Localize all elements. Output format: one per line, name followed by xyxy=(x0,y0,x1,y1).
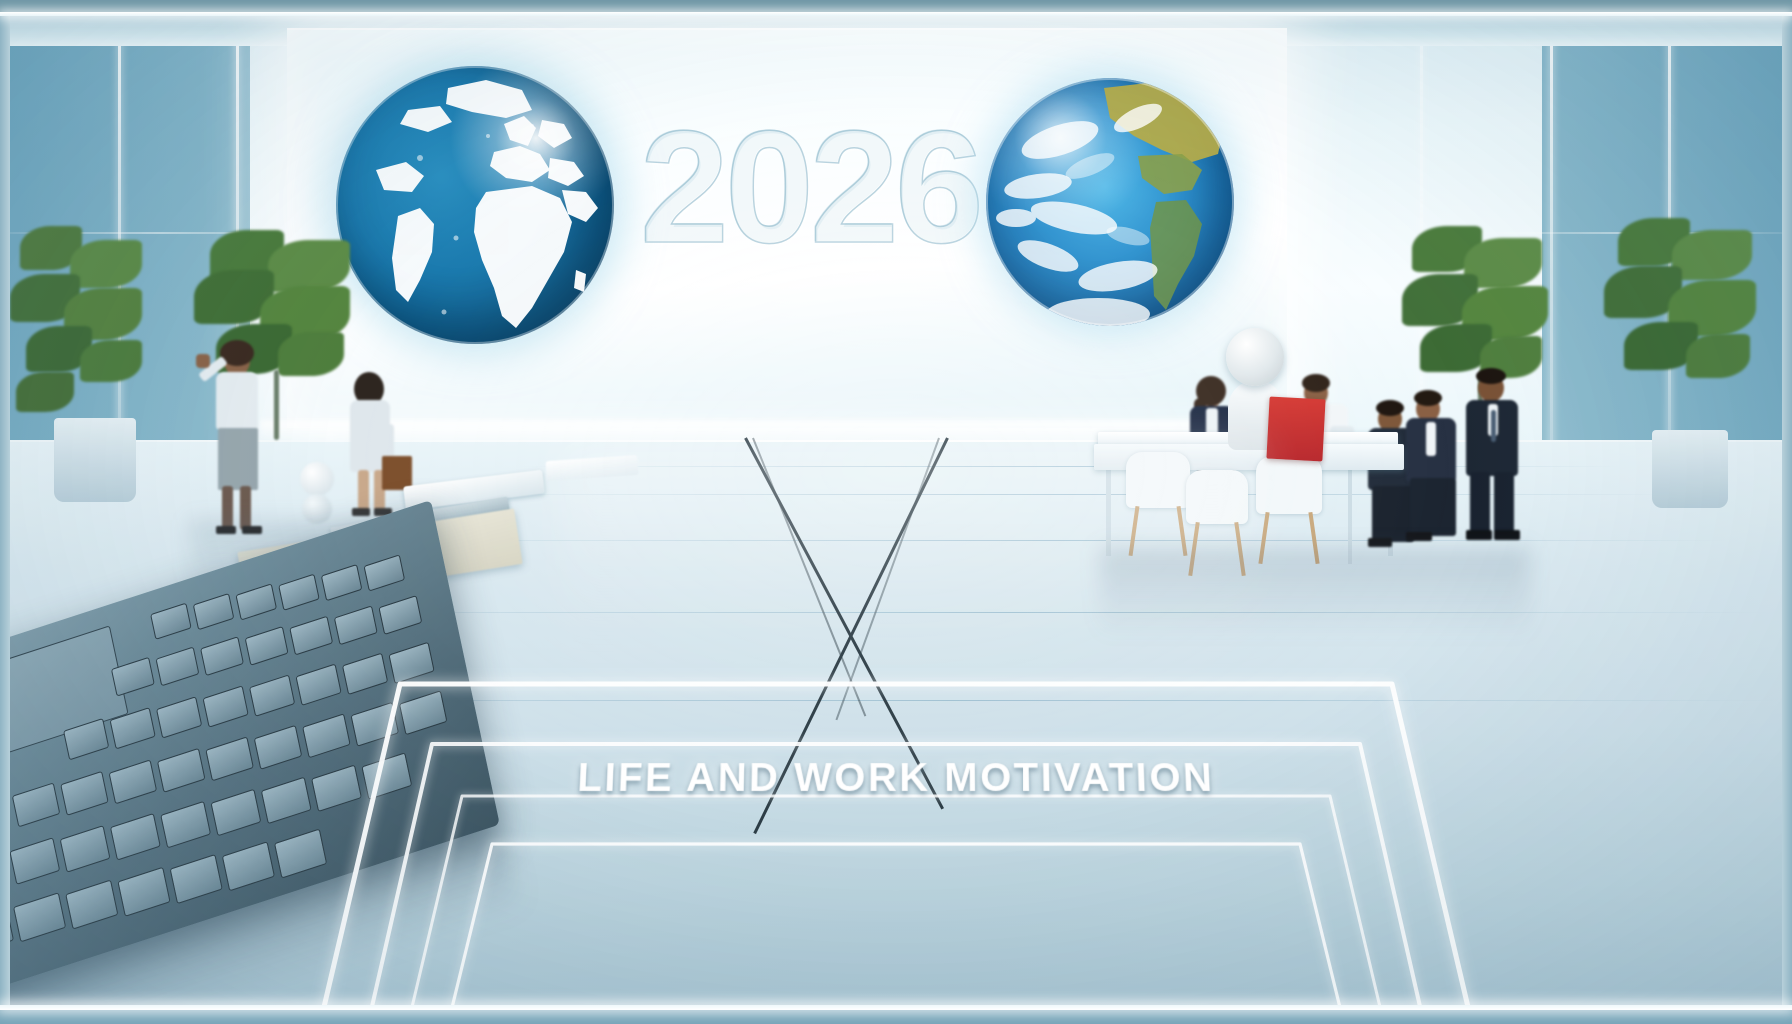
table-leg-1 xyxy=(1106,468,1111,556)
banner-headline: LIFE AND WORK MOTIVATION xyxy=(0,756,1792,801)
frame-border-left xyxy=(0,0,10,1024)
floor-sphere-2 xyxy=(302,494,332,524)
frame-border-right xyxy=(1782,0,1792,1024)
floor-line-4 xyxy=(250,612,1770,613)
person-woman-briefcase xyxy=(336,370,412,528)
plant-left-far xyxy=(10,222,190,522)
globe-left xyxy=(336,66,614,344)
banner-frames xyxy=(0,668,1792,1024)
floor-sphere-1 xyxy=(300,462,334,496)
mannequin-head xyxy=(1226,328,1284,386)
red-laptop xyxy=(1266,397,1325,462)
brown-briefcase xyxy=(382,456,412,490)
scene-root: 2026 xyxy=(0,0,1792,1024)
frame-border-bottom xyxy=(0,1010,1792,1024)
globe-right-landmasses xyxy=(986,78,1234,326)
person-man-standing-suit xyxy=(1458,366,1528,546)
person-man-seated-suit xyxy=(1402,388,1466,546)
globe-right xyxy=(986,78,1234,326)
frame-border-top xyxy=(0,0,1792,12)
frame-highlight-top xyxy=(0,12,1792,16)
plant-right-outer xyxy=(1600,218,1780,528)
person-woman-pointing xyxy=(196,336,286,536)
frame-highlight-bottom xyxy=(0,1005,1792,1010)
globe-left-landmasses xyxy=(336,66,614,344)
year-text: 2026 xyxy=(640,95,980,279)
